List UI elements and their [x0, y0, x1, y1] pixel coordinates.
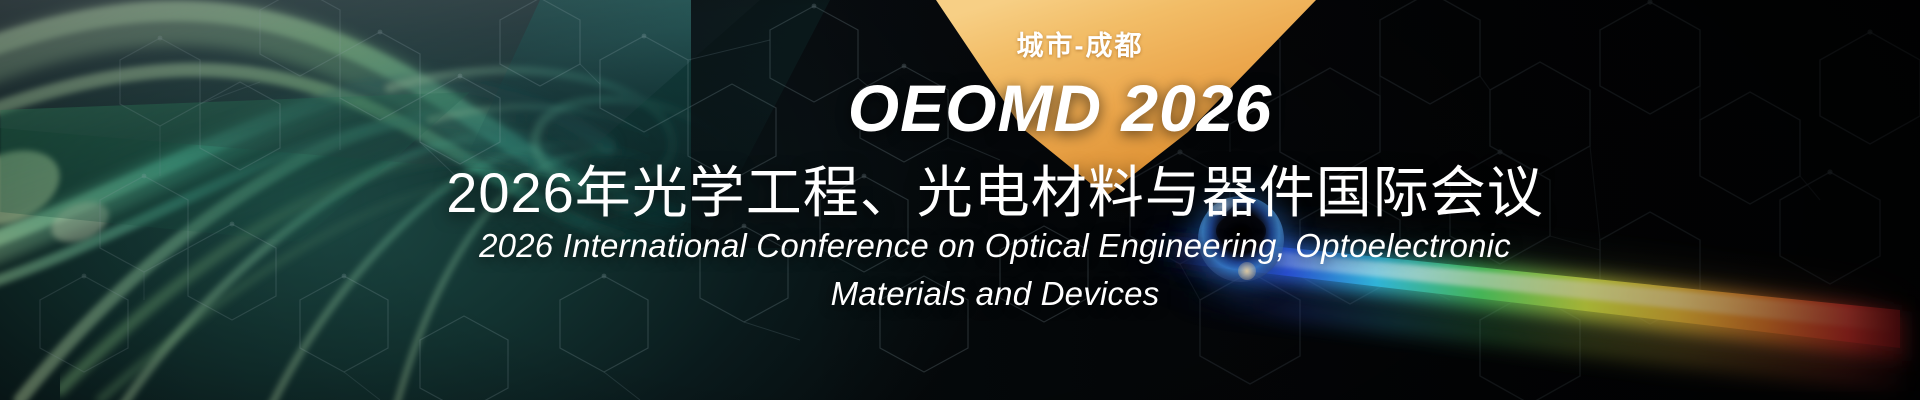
conference-chinese-title: 2026年光学工程、光电材料与器件国际会议 — [35, 148, 1920, 229]
english-title-line-1: 2026 International Conference on Optical… — [35, 222, 1920, 270]
conference-acronym-title: OEOMD 2026 — [100, 70, 1920, 146]
english-title-line-2: Materials and Devices — [35, 270, 1920, 318]
banner-text-layer: 城市-成都 OEOMD 2026 2026年光学工程、光电材料与器件国际会议 2… — [0, 0, 1920, 400]
conference-banner: 城市-成都 OEOMD 2026 2026年光学工程、光电材料与器件国际会议 2… — [0, 0, 1920, 400]
conference-english-title: 2026 International Conference on Optical… — [35, 222, 1920, 318]
city-label: 城市-成都 — [120, 24, 1920, 63]
